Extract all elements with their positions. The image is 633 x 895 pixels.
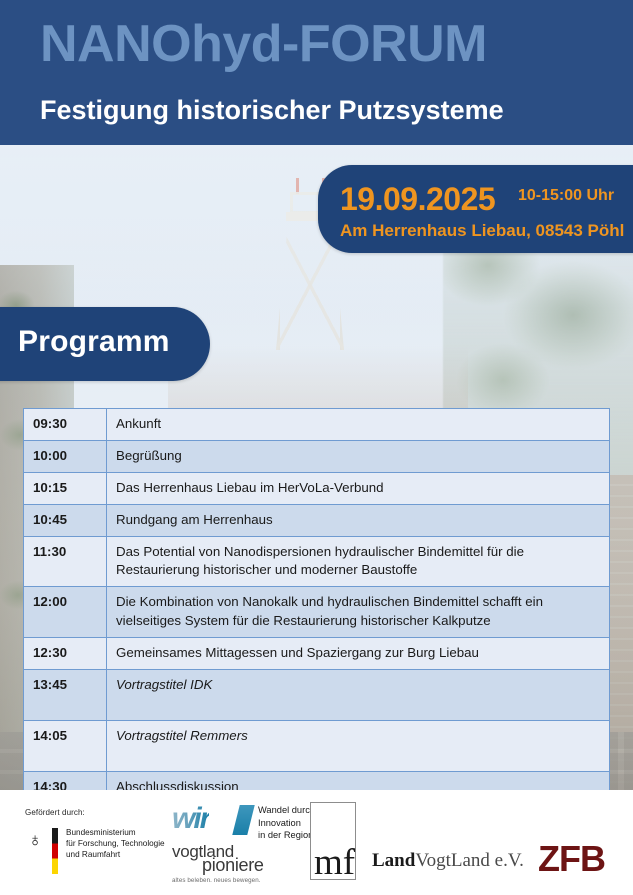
wir-wordmark: wir bbox=[172, 802, 209, 836]
programm-badge: Programm bbox=[0, 307, 210, 381]
wir-logo-text: Wandel durch Innovation in der Region bbox=[258, 804, 315, 842]
table-row: 10:00Begrüßung bbox=[24, 440, 610, 472]
table-row: 11:30Das Potential von Nanodispersionen … bbox=[24, 536, 610, 587]
bmftr-line-3: und Raumfahrt bbox=[66, 850, 165, 861]
schedule-body: 09:30Ankunft10:00Begrüßung10:15Das Herre… bbox=[24, 409, 610, 804]
schedule-time: 09:30 bbox=[24, 409, 107, 441]
wir-logo: wir Wandel durch Innovation in der Regio… bbox=[172, 804, 312, 844]
schedule-title: Begrüßung bbox=[107, 440, 610, 472]
poster-footer: Gefördert durch: ♁ Bundesministerium für… bbox=[0, 790, 633, 895]
schedule-time: 10:45 bbox=[24, 504, 107, 536]
schedule-title: Gemeinsames Mittagessen und Spaziergang … bbox=[107, 638, 610, 670]
date-banner: 19.09.2025 10-15:00 Uhr Am Herrenhaus Li… bbox=[318, 165, 633, 253]
wir-line-2: Innovation bbox=[258, 817, 315, 830]
event-location: Am Herrenhaus Liebau, 08543 Pöhl bbox=[340, 221, 624, 241]
bmftr-line-1: Bundesministerium bbox=[66, 828, 165, 839]
table-row: 12:30Gemeinsames Mittagessen und Spazier… bbox=[24, 638, 610, 670]
poster: NANOhyd-FORUM Festigung historischer Put… bbox=[0, 0, 633, 895]
federal-eagle-icon: ♁ bbox=[25, 830, 45, 852]
landvogtland-logo: LandVogtLand e.V. bbox=[372, 850, 524, 872]
schedule-title: Das Herrenhaus Liebau im HerVoLa-Verbund bbox=[107, 472, 610, 504]
vogtland-claim: altes beleben. neues bewegen. bbox=[172, 877, 261, 884]
schedule-table: 09:30Ankunft10:00Begrüßung10:15Das Herre… bbox=[23, 408, 610, 804]
funding-label: Gefördert durch: bbox=[25, 808, 85, 817]
schedule-title: Vortragstitel Remmers bbox=[107, 720, 610, 771]
landvogtland-bold: Land bbox=[372, 850, 415, 871]
zfb-logo: ZFB bbox=[538, 838, 605, 880]
poster-header: NANOhyd-FORUM Festigung historischer Put… bbox=[0, 0, 633, 145]
schedule-title: Das Potential von Nanodispersionen hydra… bbox=[107, 536, 610, 587]
table-row: 12:00Die Kombination von Nanokalk und hy… bbox=[24, 587, 610, 638]
page-title: NANOhyd-FORUM bbox=[40, 17, 487, 72]
schedule-time: 12:00 bbox=[24, 587, 107, 638]
schedule-title: Ankunft bbox=[107, 409, 610, 441]
schedule-title: Die Kombination von Nanokalk und hydraul… bbox=[107, 587, 610, 638]
vogtland-line-2: pioniere bbox=[202, 855, 264, 876]
table-row: 10:15Das Herrenhaus Liebau im HerVoLa-Ve… bbox=[24, 472, 610, 504]
event-date: 19.09.2025 bbox=[340, 181, 495, 218]
table-row: 13:45Vortragstitel IDK bbox=[24, 669, 610, 720]
bmftr-logo: ♁ Bundesministerium für Forschung, Techn… bbox=[25, 828, 175, 878]
wir-line-3: in der Region bbox=[258, 829, 315, 842]
table-row: 10:45Rundgang am Herrenhaus bbox=[24, 504, 610, 536]
event-time: 10-15:00 Uhr bbox=[518, 187, 614, 205]
landvogtland-rest: VogtLand e.V. bbox=[415, 850, 524, 871]
wir-exclamation-icon bbox=[232, 805, 254, 835]
schedule-title: Vortragstitel IDK bbox=[107, 669, 610, 720]
schedule-time: 14:05 bbox=[24, 720, 107, 771]
german-flag-icon bbox=[52, 828, 58, 874]
schedule-time: 11:30 bbox=[24, 536, 107, 587]
wir-line-1: Wandel durch bbox=[258, 804, 315, 817]
bmftr-logo-text: Bundesministerium für Forschung, Technol… bbox=[66, 828, 165, 860]
schedule-time: 13:45 bbox=[24, 669, 107, 720]
schedule-time: 12:30 bbox=[24, 638, 107, 670]
schedule-title: Rundgang am Herrenhaus bbox=[107, 504, 610, 536]
mf-wordmark: mf bbox=[314, 844, 355, 881]
schedule-time: 10:00 bbox=[24, 440, 107, 472]
mf-logo: mf bbox=[310, 802, 356, 880]
table-row: 09:30Ankunft bbox=[24, 409, 610, 441]
page-subtitle: Festigung historischer Putzsysteme bbox=[40, 96, 504, 126]
programm-badge-label: Programm bbox=[18, 325, 170, 359]
vogtland-pioniere-logo: vogtland pioniere altes beleben. neues b… bbox=[172, 842, 322, 882]
schedule-time: 10:15 bbox=[24, 472, 107, 504]
table-row: 14:05Vortragstitel Remmers bbox=[24, 720, 610, 771]
bmftr-line-2: für Forschung, Technologie bbox=[66, 839, 165, 850]
